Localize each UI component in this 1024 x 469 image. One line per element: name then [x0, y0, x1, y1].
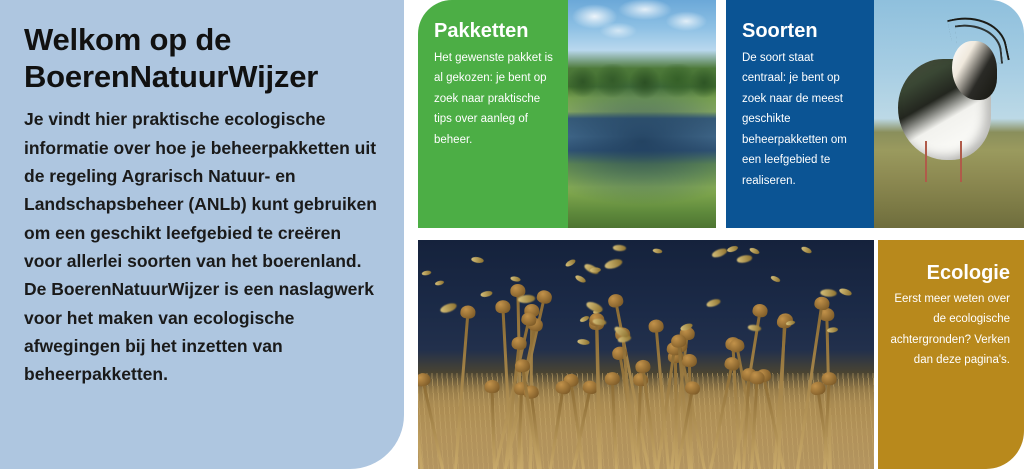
- intro-body-text: Je vindt hier praktische ecologische inf…: [24, 105, 380, 388]
- field-birds-photo-panel: [418, 240, 874, 469]
- flying-bird: [770, 275, 781, 283]
- lapwing-bird-photo: [874, 0, 1024, 228]
- card-pakketten-textblock: Pakketten Het gewenste pakket is al geko…: [418, 0, 568, 228]
- seedhead-stalk: [673, 359, 677, 469]
- flying-bird: [820, 288, 837, 296]
- flying-bird: [439, 302, 458, 315]
- flying-bird: [434, 280, 444, 286]
- flying-bird: [574, 274, 587, 284]
- card-soorten-textblock: Soorten De soort staat centraal: je bent…: [726, 0, 874, 228]
- flying-bird: [711, 246, 728, 258]
- card-soorten[interactable]: Soorten De soort staat centraal: je bent…: [726, 0, 1024, 228]
- page-root: Welkom op de BoerenNatuurWijzer Je vindt…: [0, 0, 1024, 469]
- meadow-pond-photo: [568, 0, 716, 228]
- card-pakketten-description: Het gewenste pakket is al gekozen: je be…: [434, 48, 554, 150]
- flying-bird: [577, 338, 590, 345]
- flying-bird: [604, 257, 624, 270]
- flying-bird: [800, 245, 812, 254]
- flying-bird: [590, 267, 601, 273]
- flying-bird: [480, 290, 493, 298]
- flying-bird: [827, 327, 839, 333]
- card-ecologie-description: Eerst meer weten over de ecologische ach…: [890, 289, 1010, 371]
- flying-bird: [517, 294, 535, 303]
- flying-bird: [736, 254, 753, 264]
- page-title: Welkom op de BoerenNatuurWijzer: [24, 22, 380, 95]
- flying-bird: [565, 258, 577, 268]
- card-pakketten[interactable]: Pakketten Het gewenste pakket is al geko…: [418, 0, 716, 228]
- card-pakketten-title: Pakketten: [434, 20, 554, 43]
- card-ecologie[interactable]: Ecologie Eerst meer weten over de ecolog…: [878, 240, 1024, 469]
- bird-legs-icon: [925, 141, 962, 182]
- flying-bird: [749, 247, 761, 256]
- intro-panel: Welkom op de BoerenNatuurWijzer Je vindt…: [0, 0, 404, 469]
- card-soorten-title: Soorten: [742, 20, 860, 43]
- flying-bird: [652, 248, 662, 254]
- flying-bird: [612, 244, 626, 251]
- flying-bird: [726, 245, 738, 253]
- flying-bird: [471, 257, 484, 265]
- flying-bird: [422, 270, 432, 276]
- card-ecologie-title: Ecologie: [890, 262, 1010, 285]
- flying-bird: [510, 275, 521, 282]
- flying-bird: [585, 300, 604, 314]
- flying-bird: [706, 298, 722, 309]
- flying-bird: [748, 324, 762, 332]
- field-birds-photo: [418, 240, 874, 469]
- flying-bird: [838, 287, 852, 297]
- card-soorten-description: De soort staat centraal: je bent op zoek…: [742, 48, 860, 191]
